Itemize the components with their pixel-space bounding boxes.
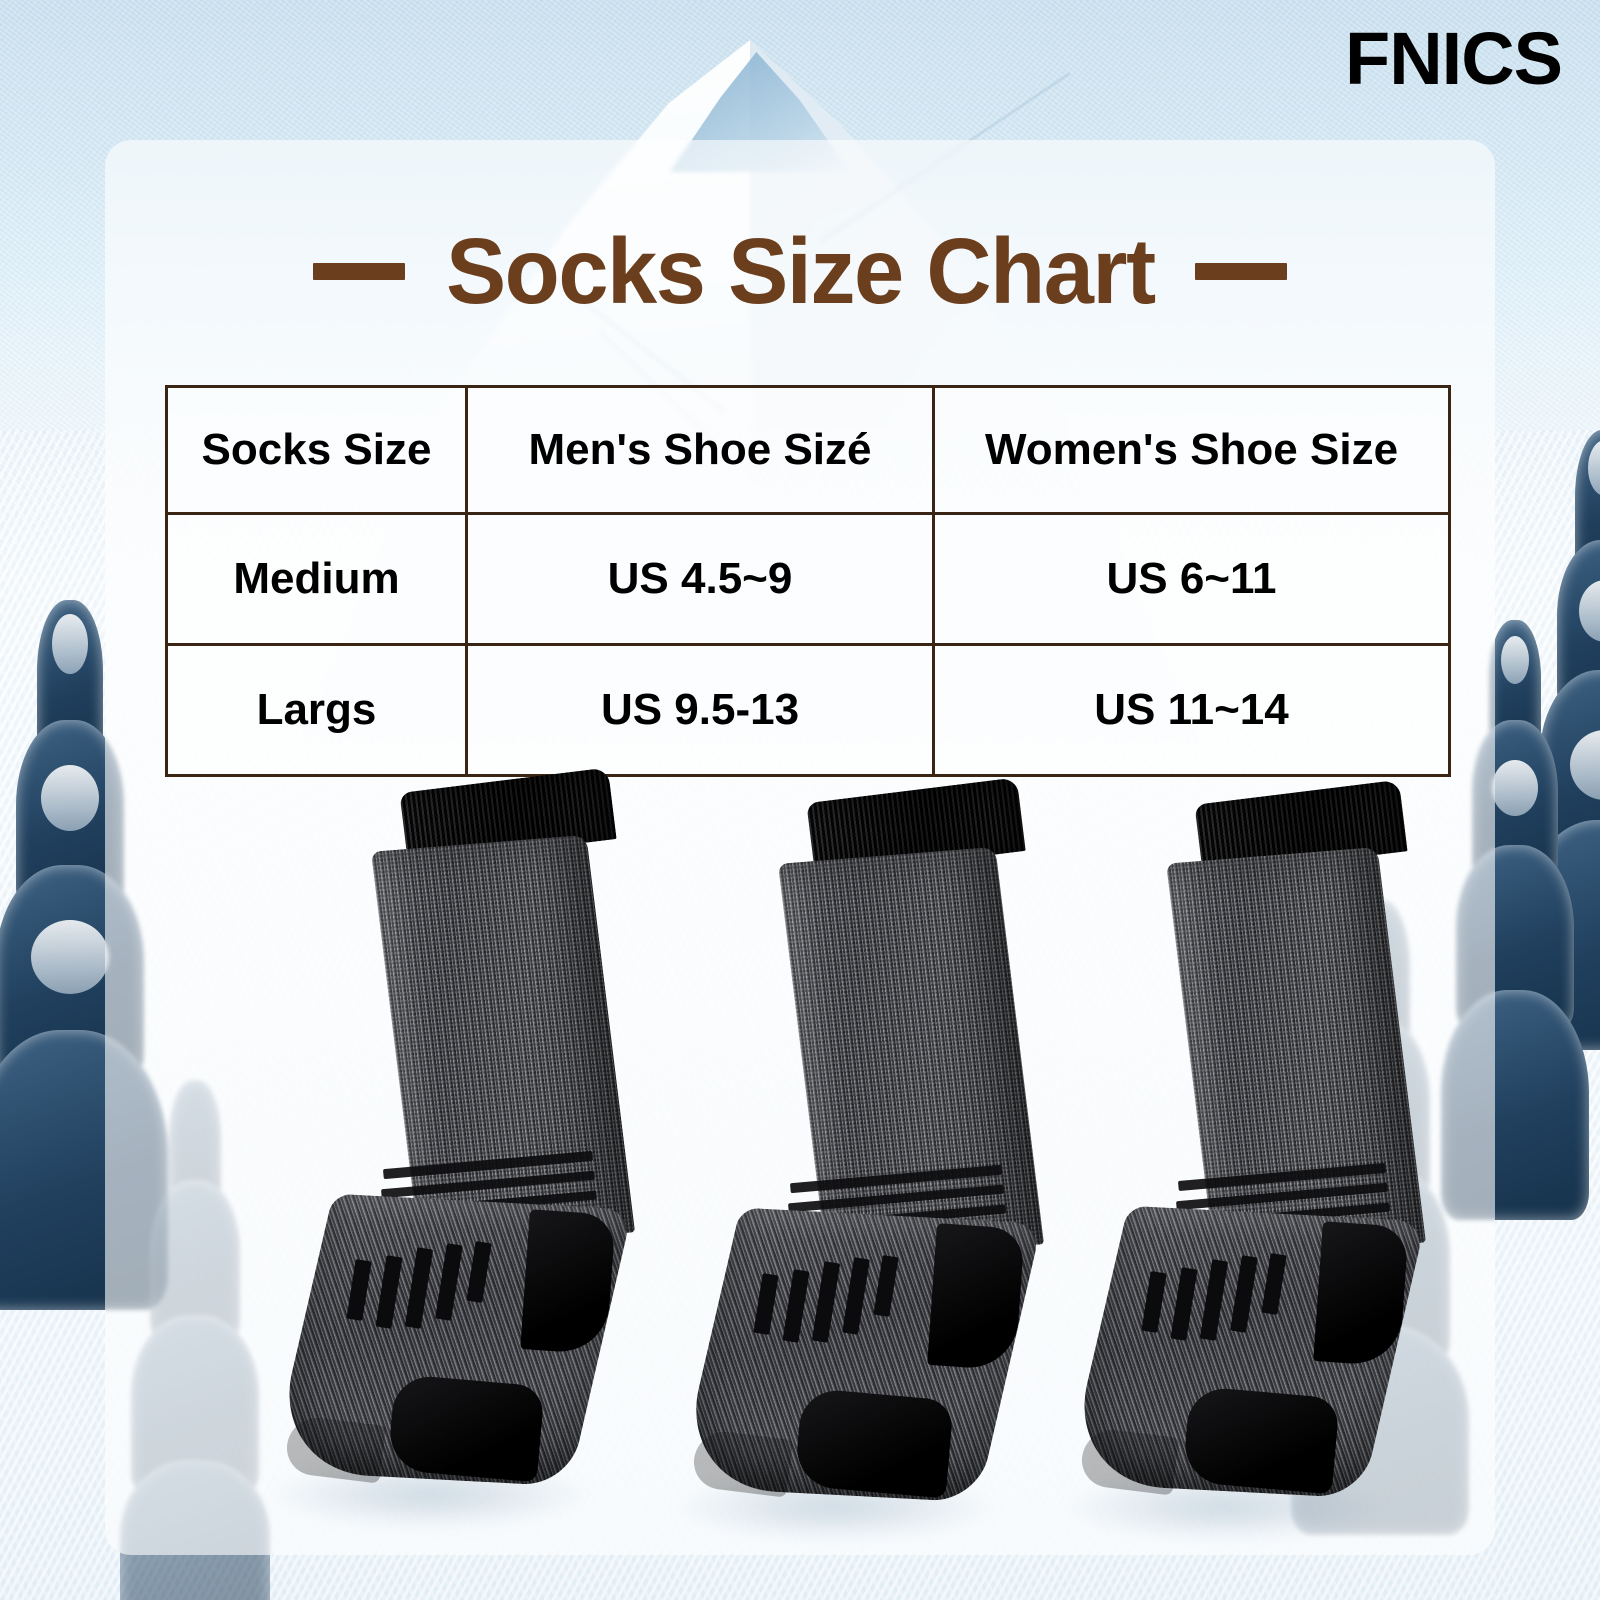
sock-image-right — [1050, 788, 1380, 1588]
sock-sole-patch — [794, 1388, 954, 1499]
cell-size-large: Largs — [167, 645, 467, 776]
brand-logo: FNICS — [1345, 22, 1562, 96]
sock-image-left — [255, 760, 585, 1560]
table-header-row: Socks Size Men's Shoe Sizé Women's Shoe … — [167, 387, 1450, 514]
table-row: Medium US 4.5~9 US 6~11 — [167, 514, 1450, 645]
cell-womens-large: US 11~14 — [934, 645, 1450, 776]
sock-image-center — [660, 782, 990, 1582]
cell-mens-medium: US 4.5~9 — [467, 514, 934, 645]
page-title-text: Socks Size Chart — [446, 225, 1155, 318]
column-header-mens-shoe: Men's Shoe Sizé — [467, 387, 934, 514]
cell-womens-medium: US 6~11 — [934, 514, 1450, 645]
size-chart-graphic: FNICS Socks Size Chart Socks Size Men's … — [0, 0, 1600, 1600]
product-photo-group — [105, 760, 1495, 1560]
title-dash-right-icon — [1195, 263, 1287, 280]
sock-sole-patch — [387, 1374, 545, 1483]
sock-sole-patch — [1182, 1386, 1340, 1495]
column-header-socks-size: Socks Size — [167, 387, 467, 514]
size-chart-table: Socks Size Men's Shoe Sizé Women's Shoe … — [165, 385, 1451, 777]
column-header-womens-shoe: Women's Shoe Size — [934, 387, 1450, 514]
cell-mens-large: US 9.5-13 — [467, 645, 934, 776]
table-row: Largs US 9.5-13 US 11~14 — [167, 645, 1450, 776]
cell-size-medium: Medium — [167, 514, 467, 645]
page-title: Socks Size Chart — [105, 216, 1495, 326]
title-dash-left-icon — [313, 263, 405, 280]
